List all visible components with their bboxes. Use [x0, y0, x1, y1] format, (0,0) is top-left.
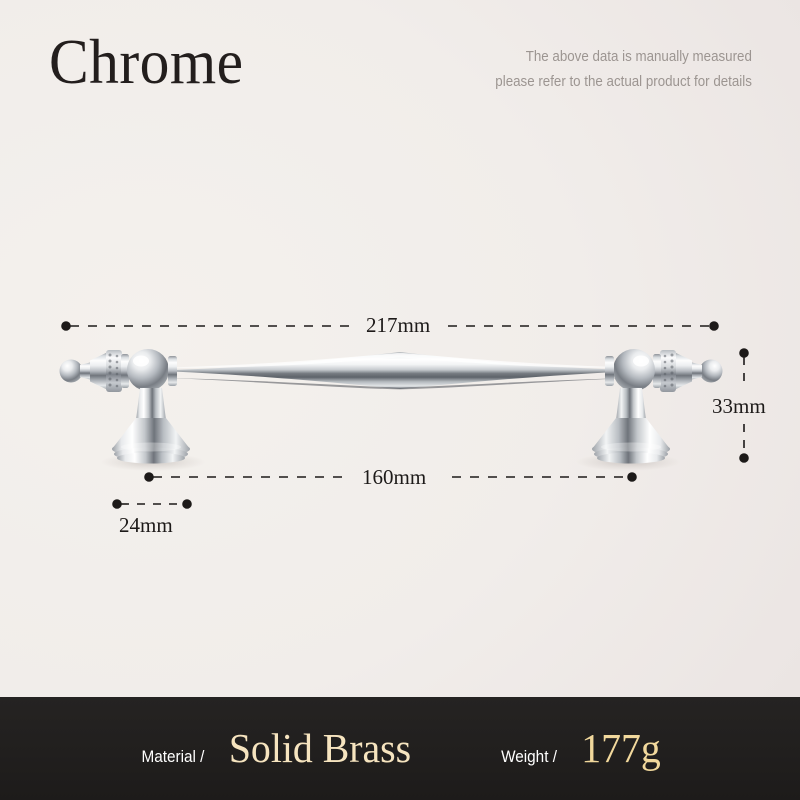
dimension-label-projection-height: 33mm — [712, 394, 766, 419]
spec-material-label: Material / — [142, 747, 205, 767]
base-cone-left — [112, 418, 190, 449]
handle-post-right — [592, 349, 723, 464]
dimension-label-overall-length: 217mm — [366, 313, 430, 338]
beaded-collar-right — [660, 350, 676, 392]
page-title: Chrome — [49, 29, 244, 94]
measurement-disclaimer: The above data is manually measured plea… — [495, 45, 752, 95]
product-illustration — [0, 0, 800, 800]
disclaimer-line-2: please refer to the actual product for d… — [495, 70, 752, 95]
spec-weight-value: 177g — [581, 728, 661, 769]
finial-tip-right — [700, 360, 723, 383]
post-sphere-right — [613, 349, 655, 391]
base-cone-right — [592, 418, 670, 449]
dimension-line-base-diameter — [113, 500, 191, 508]
handle-post-left — [60, 349, 191, 464]
dimension-label-base-diameter: 24mm — [119, 513, 173, 538]
shadow-left — [101, 453, 205, 471]
handle-bar — [150, 352, 650, 389]
disclaimer-line-1: The above data is manually measured — [495, 45, 752, 70]
finial-tip-left — [60, 360, 83, 383]
spec-material-value: Solid Brass — [229, 728, 411, 769]
dimension-label-center-to-center: 160mm — [362, 465, 426, 490]
beaded-collar-left — [106, 350, 122, 392]
spec-bar: Material / Solid Brass Weight / 177g — [0, 697, 800, 800]
dimension-overlay — [0, 0, 800, 800]
product-spec-image: Chrome The above data is manually measur… — [0, 0, 800, 800]
spec-weight: Weight / 177g — [498, 728, 662, 769]
spec-material: Material / Solid Brass — [138, 728, 414, 769]
spec-weight-label: Weight / — [501, 747, 557, 767]
shadow-right — [576, 453, 680, 471]
post-sphere-left — [127, 349, 169, 391]
